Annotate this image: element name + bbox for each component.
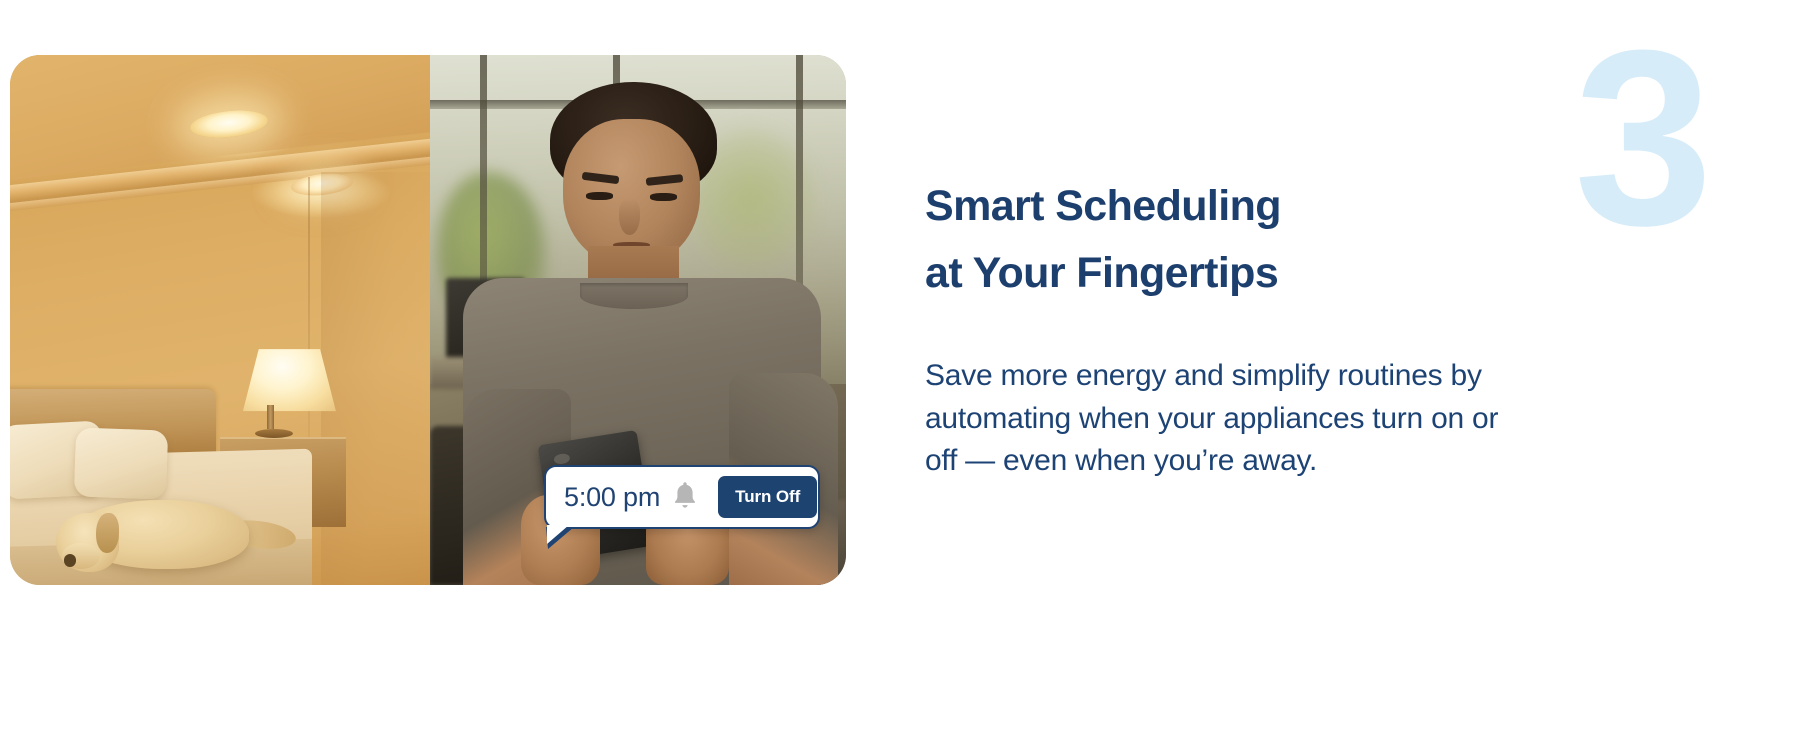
turn-off-button[interactable]: Turn Off bbox=[718, 476, 817, 518]
person-eye bbox=[650, 193, 677, 201]
person-nose bbox=[619, 198, 640, 235]
notification-time: 5:00 pm bbox=[564, 482, 660, 513]
dog-nose bbox=[64, 554, 77, 567]
pillow bbox=[74, 427, 169, 499]
wall-corner bbox=[308, 177, 310, 474]
page-title: Smart Scheduling at Your Fingertips bbox=[925, 173, 1445, 306]
lamp-base bbox=[255, 429, 293, 438]
headline-line-1: Smart Scheduling bbox=[925, 182, 1281, 230]
text-column: 3 Smart Scheduling at Your Fingertips Sa… bbox=[925, 55, 1765, 585]
lamp-shade bbox=[243, 349, 336, 411]
headline-line-2: at Your Fingertips bbox=[925, 240, 1445, 307]
bubble-tail bbox=[546, 527, 574, 549]
media-card: 5:00 pm Turn Off bbox=[10, 55, 846, 585]
step-number: 3 bbox=[1574, 13, 1707, 263]
person-eye bbox=[586, 192, 613, 200]
schedule-notification-bubble: 5:00 pm Turn Off bbox=[544, 465, 820, 529]
lamp-neck bbox=[267, 405, 274, 429]
bell-icon bbox=[672, 480, 698, 515]
feature-slide: 5:00 pm Turn Off 3 Smart Scheduling at Y… bbox=[0, 0, 1800, 738]
bedroom-photo-panel bbox=[10, 55, 430, 585]
body-copy: Save more energy and simplify routines b… bbox=[925, 355, 1535, 483]
